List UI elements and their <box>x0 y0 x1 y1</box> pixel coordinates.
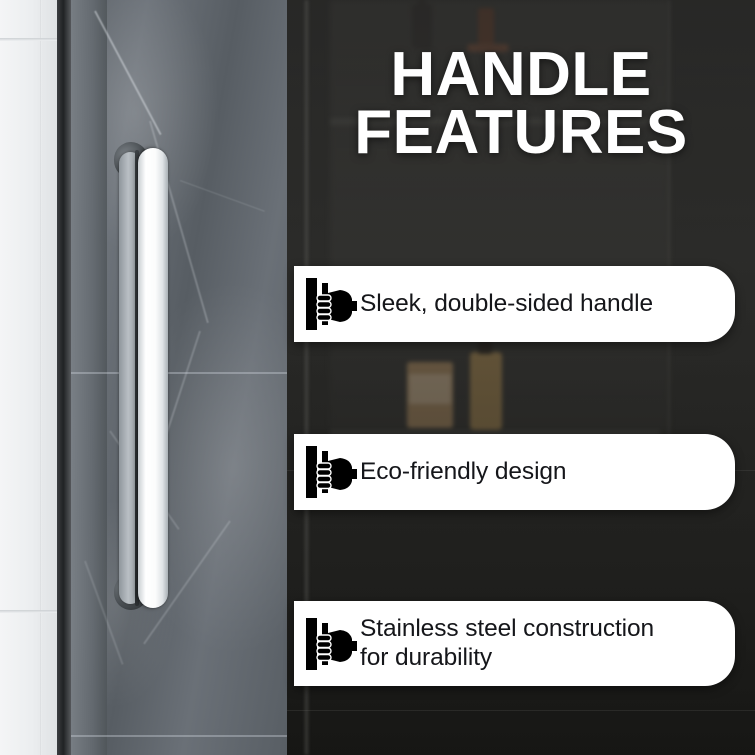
tile-grout-bottom <box>0 610 57 613</box>
tile-grout-vertical <box>40 0 42 755</box>
marble-tile-seam <box>71 735 287 737</box>
white-tile-wall <box>0 0 57 755</box>
door-jamb <box>57 0 71 755</box>
feature-label: Stainless steel construction for durabil… <box>360 615 735 673</box>
feature-label-line-1: Eco-friendly design <box>360 458 566 485</box>
product-infographic: HANDLE FEATURES Sleek, double-sided hand… <box>0 0 755 755</box>
feature-label-line-1: Sleek, double-sided handle <box>360 290 653 317</box>
title-line-2: FEATURES <box>287 104 755 162</box>
feature-card[interactable]: Sleek, double-sided handle <box>294 266 735 342</box>
hand-gripping-handle-icon <box>294 266 360 342</box>
shower-door-handle <box>100 138 180 618</box>
feature-label-line-1: Stainless steel construction <box>360 615 654 642</box>
feature-label-line-2: for durability <box>360 644 717 673</box>
page-title: HANDLE FEATURES <box>287 46 755 163</box>
hand-gripping-handle-icon <box>294 434 360 510</box>
hand-gripping-handle-icon <box>294 601 360 686</box>
feature-label: Sleek, double-sided handle <box>360 290 735 319</box>
title-line-1: HANDLE <box>287 46 755 104</box>
handle-bar-front <box>138 148 168 608</box>
feature-card[interactable]: Eco-friendly design <box>294 434 735 510</box>
tile-grout-top <box>0 38 57 41</box>
glass-seam-line <box>287 710 755 711</box>
feature-label: Eco-friendly design <box>360 458 735 487</box>
feature-card[interactable]: Stainless steel construction for durabil… <box>294 601 735 686</box>
